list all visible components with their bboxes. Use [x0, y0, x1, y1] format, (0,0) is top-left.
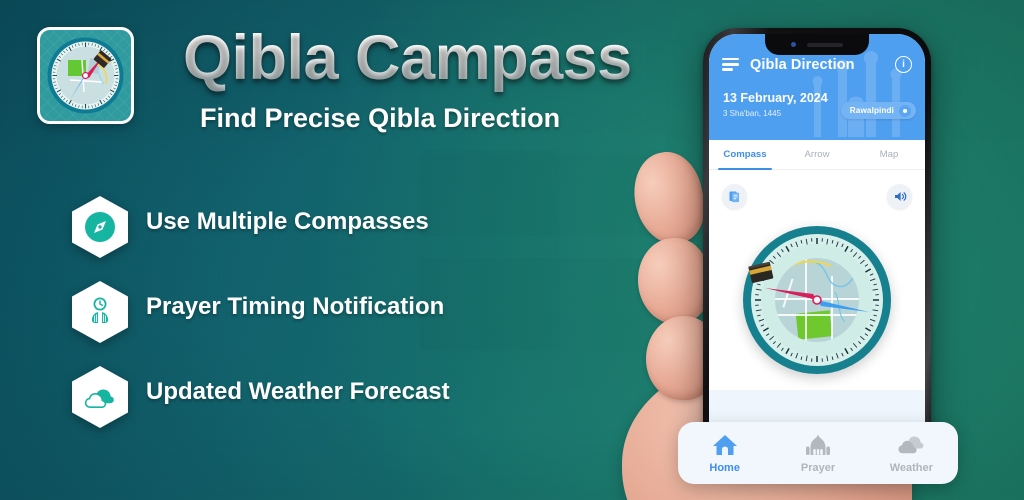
nav-label-prayer: Prayer [801, 462, 835, 474]
feature-icon-hex-weather [72, 366, 128, 428]
nav-item-weather[interactable]: Weather [865, 433, 958, 474]
compass-outer-face: W S E N [751, 234, 883, 366]
speaker-volume-icon [893, 190, 907, 203]
phone-notch [765, 34, 869, 55]
location-chip[interactable]: Rawalpindi [841, 102, 916, 119]
compass-style-button[interactable] [722, 184, 747, 209]
compass-widget[interactable]: W S E N [743, 226, 891, 374]
tab-compass[interactable]: Compass [709, 140, 781, 169]
promo-banner: Qibla Campass Find Precise Qibla Directi… [0, 0, 1024, 500]
book-layers-icon [728, 190, 741, 203]
tab-bar: Compass Arrow Map [709, 140, 925, 170]
qibla-needle [765, 288, 817, 300]
tab-map[interactable]: Map [853, 140, 925, 169]
hamburger-menu-icon[interactable] [722, 58, 739, 71]
hijri-date: 3 Sha'ban, 1445 [723, 109, 781, 118]
feature-label-prayer: Prayer Timing Notification [146, 293, 444, 321]
compass-icon [83, 210, 117, 244]
feature-icon-hex-prayer [72, 281, 128, 343]
location-pin-icon [899, 105, 911, 117]
needle-hub [813, 296, 821, 304]
feature-icon-hex-compasses [72, 196, 128, 258]
feature-label-compasses: Use Multiple Compasses [146, 208, 429, 236]
bottom-navigation-bar: Home Prayer Weather [678, 422, 958, 484]
mosque-icon [804, 433, 832, 457]
nav-label-weather: Weather [890, 462, 933, 474]
kaaba-icon [745, 258, 777, 288]
tab-arrow[interactable]: Arrow [781, 140, 853, 169]
compass-needles [761, 244, 873, 356]
gregorian-date: 13 February, 2024 [723, 91, 828, 105]
phone-screen: Qibla Direction i 13 February, 2024 3 Sh… [709, 34, 925, 452]
phone-mockup: Qibla Direction i 13 February, 2024 3 Sh… [703, 28, 931, 458]
banner-subtitle: Find Precise Qibla Direction [200, 103, 560, 134]
cloud-icon [897, 433, 925, 457]
nav-item-prayer[interactable]: Prayer [771, 433, 864, 474]
location-name: Rawalpindi [850, 106, 894, 115]
home-icon [712, 433, 738, 457]
front-camera [791, 42, 796, 47]
earpiece-speaker [807, 43, 843, 47]
finger-2 [635, 236, 713, 327]
banner-title: Qibla Campass [183, 22, 632, 94]
app-icon-compass-graphic [40, 30, 131, 121]
feature-label-weather: Updated Weather Forecast [146, 378, 450, 406]
app-title: Qibla Direction [750, 57, 855, 73]
nav-item-home[interactable]: Home [678, 433, 771, 474]
cloud-icon [82, 380, 118, 414]
info-icon[interactable]: i [895, 56, 912, 73]
app-icon [37, 27, 134, 124]
nav-label-home: Home [709, 462, 740, 474]
sound-button[interactable] [887, 184, 912, 209]
compass-dial [761, 244, 873, 356]
praying-hands-clock-icon [83, 295, 117, 329]
finger-1 [626, 146, 712, 250]
south-needle [817, 300, 869, 312]
